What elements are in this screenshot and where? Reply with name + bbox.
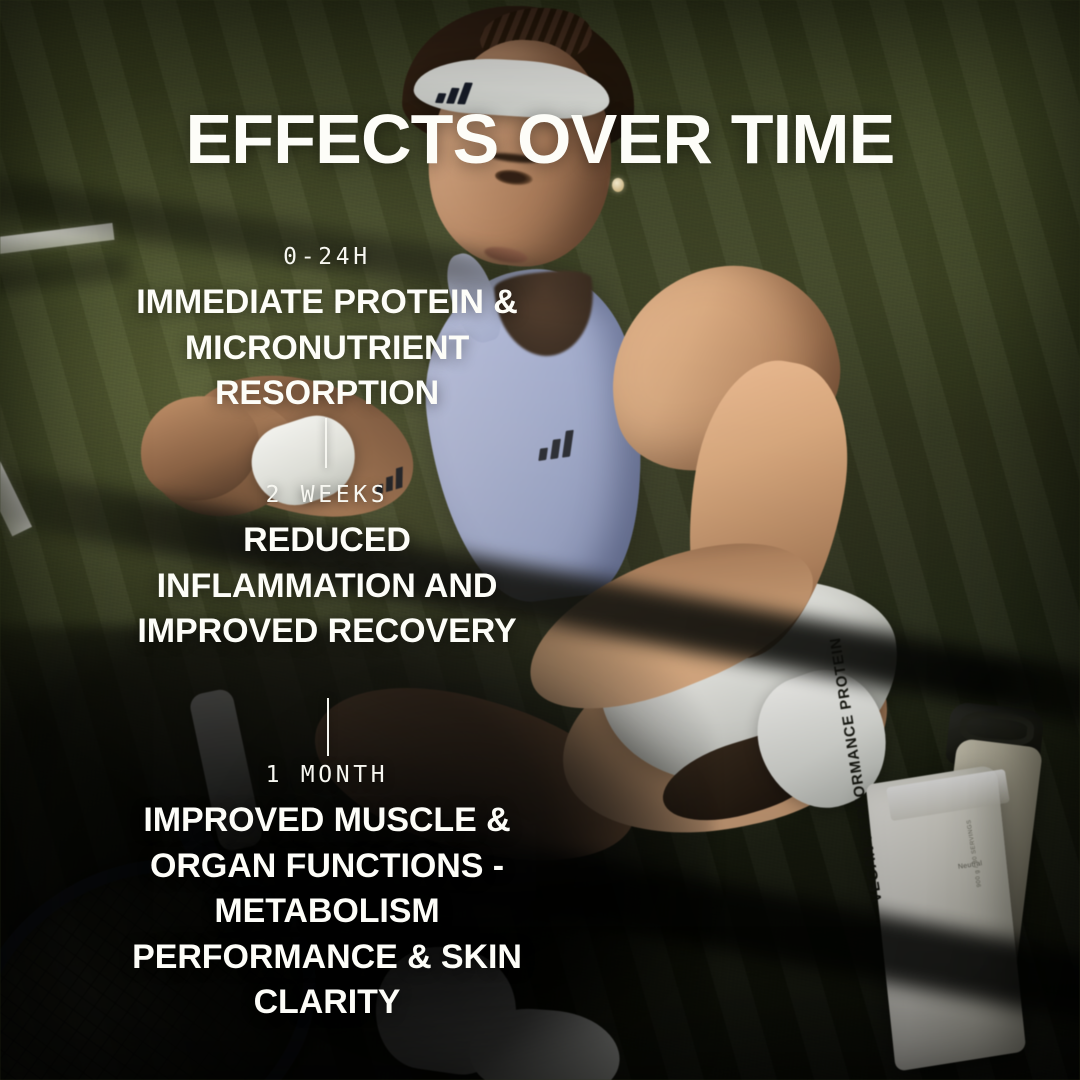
timeline-divider-1 [325,418,327,468]
timeline-stage-2-description: IMPROVED MUSCLE & ORGAN FUNCTIONS - META… [112,798,542,1026]
timeline-stage-1: 2 WEEKS REDUCED INFLAMMATION AND IMPROVE… [112,482,542,655]
timeline-stage-0-description: IMMEDIATE PROTEIN & MICRONUTRIENT RESORP… [112,280,542,417]
timeline-divider-2 [327,698,329,756]
promo-graphic: Neutral 900 g / 30 SERVINGS VEGAN PERFOR… [0,0,1080,1080]
page-title: EFFECTS OVER TIME [0,104,1080,174]
timeline-stage-2: 1 MONTH IMPROVED MUSCLE & ORGAN FUNCTION… [112,762,542,1026]
timeline-stage-0: 0-24H IMMEDIATE PROTEIN & MICRONUTRIENT … [112,244,542,417]
timeline-stage-1-time: 2 WEEKS [112,482,542,508]
timeline-stage-1-description: REDUCED INFLAMMATION AND IMPROVED RECOVE… [112,518,542,655]
text-overlay: EFFECTS OVER TIME 0-24H IMMEDIATE PROTEI… [0,0,1080,1080]
timeline-stage-2-time: 1 MONTH [112,762,542,788]
timeline-stage-0-time: 0-24H [112,244,542,270]
